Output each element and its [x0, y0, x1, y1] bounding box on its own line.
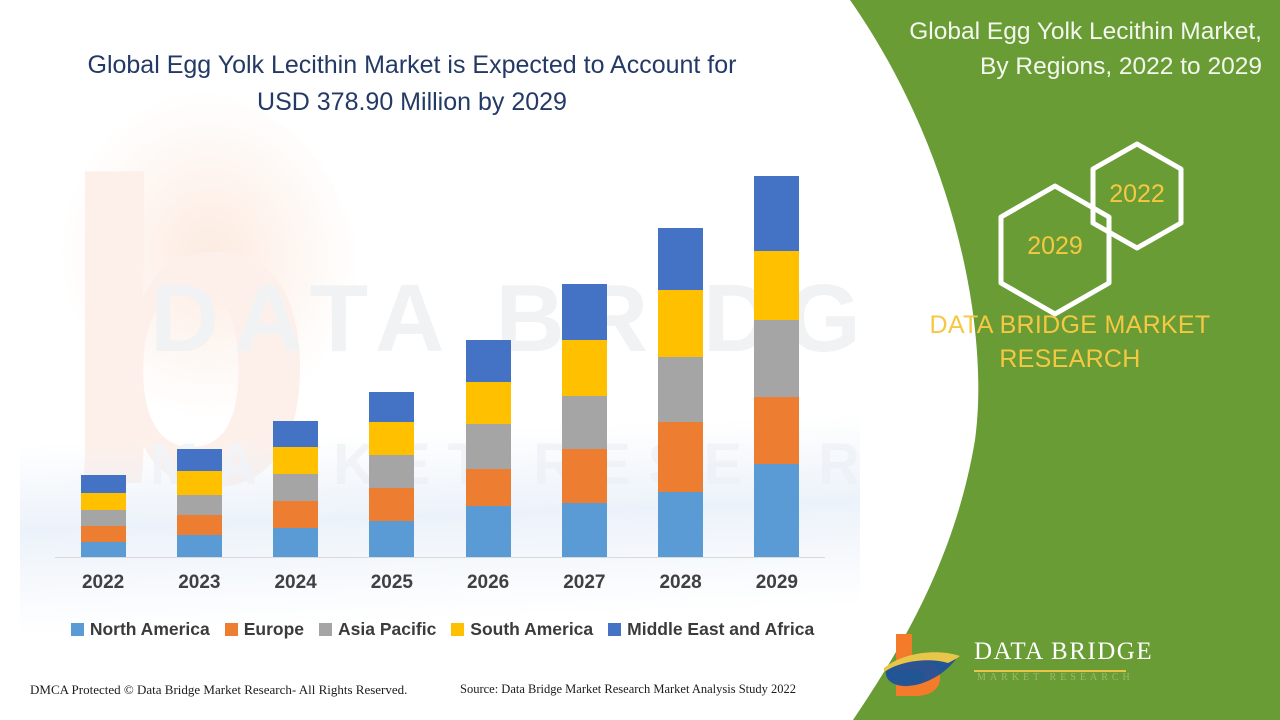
bar-segment	[754, 251, 799, 320]
panel-title: Global Egg Yolk Lecithin Market, By Regi…	[880, 14, 1262, 84]
x-tick-2024: 2024	[261, 572, 331, 594]
bar-segment	[369, 488, 414, 522]
legend-swatch-icon	[608, 623, 621, 636]
legend-label: North America	[90, 619, 210, 640]
data-bridge-logo: DATA BRIDGE MARKET RESEARCH	[882, 628, 1132, 700]
bar-2028	[658, 228, 703, 557]
bar-segment	[466, 424, 511, 469]
chart-plot-area	[55, 170, 825, 558]
bar-2029	[754, 176, 799, 557]
bar-segment	[81, 493, 126, 510]
copyright-text: DMCA Protected © Data Bridge Market Rese…	[30, 682, 407, 698]
bar-segment	[562, 284, 607, 339]
bar-segment	[81, 542, 126, 557]
logo-mark-icon	[882, 628, 972, 698]
bar-segment	[81, 475, 126, 492]
brand-name: DATA BRIDGE MARKET RESEARCH	[900, 308, 1240, 376]
legend-swatch-icon	[451, 623, 464, 636]
x-tick-2026: 2026	[453, 572, 523, 594]
bar-segment	[273, 474, 318, 501]
x-tick-2025: 2025	[357, 572, 427, 594]
bar-segment	[466, 340, 511, 383]
bar-segment	[177, 471, 222, 494]
bar-segment	[658, 228, 703, 289]
bar-segment	[177, 535, 222, 557]
legend-item: Middle East and Africa	[608, 619, 814, 640]
hexagon-group: 2029 2022	[860, 140, 1280, 300]
bar-segment	[81, 526, 126, 541]
bar-2027	[562, 284, 607, 557]
legend-label: Europe	[244, 619, 304, 640]
x-tick-2022: 2022	[68, 572, 138, 594]
legend-label: Middle East and Africa	[627, 619, 814, 640]
x-tick-2027: 2027	[549, 572, 619, 594]
bar-2026	[466, 340, 511, 557]
bar-segment	[177, 515, 222, 534]
bar-segment	[369, 422, 414, 455]
chart-legend: North AmericaEuropeAsia PacificSouth Ame…	[55, 616, 830, 642]
bar-segment	[177, 449, 222, 471]
bar-segment	[562, 449, 607, 503]
bar-segment	[754, 464, 799, 557]
x-tick-2028: 2028	[646, 572, 716, 594]
x-tick-2029: 2029	[742, 572, 812, 594]
stacked-bar-chart	[55, 170, 825, 560]
bar-segment	[754, 176, 799, 251]
bar-segment	[562, 340, 607, 396]
green-panel-content: Global Egg Yolk Lecithin Market, By Regi…	[860, 0, 1280, 720]
x-axis-line	[55, 557, 825, 558]
bar-segment	[466, 506, 511, 557]
bar-2025	[369, 392, 414, 557]
bar-segment	[562, 396, 607, 449]
bar-segment	[273, 501, 318, 529]
legend-item: North America	[71, 619, 210, 640]
logo-wordmark: DATA BRIDGE	[974, 638, 1153, 666]
page-title: Global Egg Yolk Lecithin Market is Expec…	[62, 47, 762, 121]
bar-segment	[658, 290, 703, 357]
bar-segment	[658, 422, 703, 491]
bar-segment	[273, 421, 318, 447]
infographic-canvas: b DATA BRIDGE MARKET RESEARCH Global Egg…	[0, 0, 1280, 720]
source-text: Source: Data Bridge Market Research Mark…	[460, 682, 796, 697]
bar-2023	[177, 449, 222, 557]
bar-segment	[754, 320, 799, 397]
footer: DMCA Protected © Data Bridge Market Rese…	[0, 682, 845, 712]
x-tick-2023: 2023	[164, 572, 234, 594]
bar-segment	[466, 382, 511, 424]
legend-label: Asia Pacific	[338, 619, 436, 640]
bar-segment	[81, 510, 126, 526]
bar-segment	[466, 469, 511, 506]
bar-segment	[369, 521, 414, 557]
bar-2022	[81, 475, 126, 557]
bar-segment	[754, 397, 799, 464]
bar-segment	[658, 357, 703, 422]
bar-segment	[273, 447, 318, 475]
legend-swatch-icon	[71, 623, 84, 636]
x-axis-tick-labels: 20222023202420252026202720282029	[55, 572, 825, 598]
bar-2024	[273, 421, 318, 557]
hexagon-2022-label: 2022	[1087, 180, 1187, 209]
bar-segment	[369, 392, 414, 423]
bar-segment	[177, 495, 222, 515]
bar-segment	[369, 455, 414, 488]
hexagon-2022: 2022	[1087, 140, 1187, 252]
logo-tagline: MARKET RESEARCH	[977, 672, 1134, 683]
legend-swatch-icon	[319, 623, 332, 636]
legend-item: Asia Pacific	[319, 619, 436, 640]
bar-segment	[273, 528, 318, 557]
legend-swatch-icon	[225, 623, 238, 636]
legend-item: Europe	[225, 619, 304, 640]
bar-segment	[658, 492, 703, 557]
bar-segment	[562, 503, 607, 557]
legend-item: South America	[451, 619, 593, 640]
legend-label: South America	[470, 619, 593, 640]
